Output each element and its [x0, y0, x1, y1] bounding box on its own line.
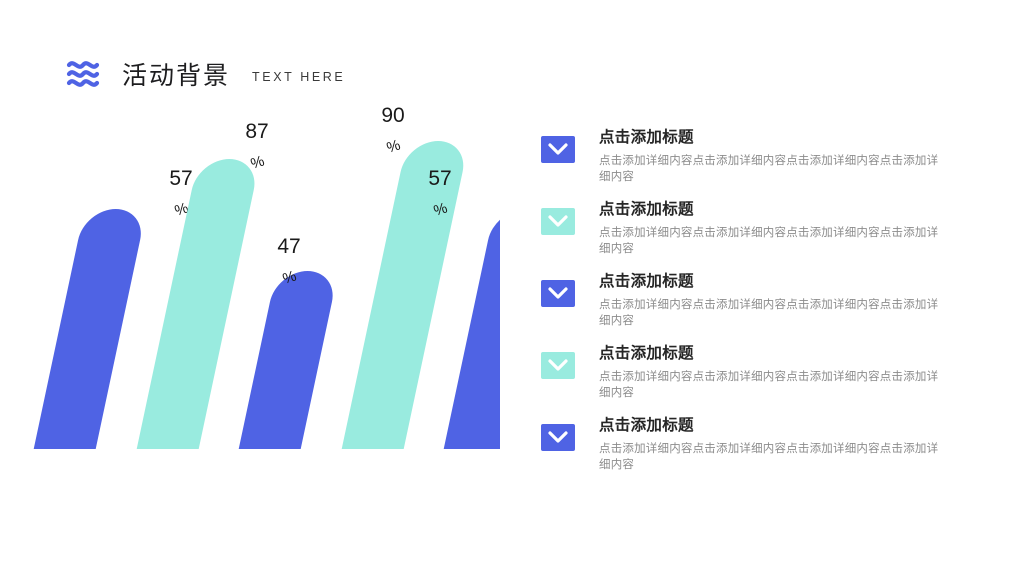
bar-4-unit: % — [385, 137, 403, 157]
bar-chart: 57 % 87 % 47 % 90 % 57 % — [0, 90, 500, 470]
bar-2-unit: % — [249, 153, 267, 173]
bar-4: 90 % — [342, 104, 469, 449]
list-item-body: 点击添加标题 点击添加详细内容点击添加详细内容点击添加详细内容点击添加详细内容 — [599, 344, 961, 401]
bar-5: 57 % — [428, 167, 500, 449]
bar-2: 87 % — [137, 120, 269, 449]
bar-1-value: 57 — [169, 167, 192, 190]
list-item-desc: 点击添加详细内容点击添加详细内容点击添加详细内容点击添加详细内容 — [599, 369, 944, 401]
list-item-desc: 点击添加详细内容点击添加详细内容点击添加详细内容点击添加详细内容 — [599, 153, 944, 185]
list-item-title: 点击添加标题 — [599, 416, 961, 436]
list-item-desc: 点击添加详细内容点击添加详细内容点击添加详细内容点击添加详细内容 — [599, 225, 944, 257]
page-subtitle: TEXT HERE — [252, 70, 345, 84]
list-item-body: 点击添加标题 点击添加详细内容点击添加详细内容点击添加详细内容点击添加详细内容 — [599, 200, 961, 257]
bar-5-value: 57 — [428, 167, 451, 190]
bar-3-value: 47 — [277, 235, 300, 258]
list-item-body: 点击添加标题 点击添加详细内容点击添加详细内容点击添加详细内容点击添加详细内容 — [599, 416, 961, 473]
list-item[interactable]: 点击添加标题 点击添加详细内容点击添加详细内容点击添加详细内容点击添加详细内容 — [541, 344, 961, 416]
bar-2-value: 87 — [245, 120, 268, 143]
list-item-body: 点击添加标题 点击添加详细内容点击添加详细内容点击添加详细内容点击添加详细内容 — [599, 272, 961, 329]
list-item-desc: 点击添加详细内容点击添加详细内容点击添加详细内容点击添加详细内容 — [599, 441, 944, 473]
list-item-body: 点击添加标题 点击添加详细内容点击添加详细内容点击添加详细内容点击添加详细内容 — [599, 128, 961, 185]
chevron-down-icon[interactable] — [541, 424, 575, 451]
list-item[interactable]: 点击添加标题 点击添加详细内容点击添加详细内容点击添加详细内容点击添加详细内容 — [541, 416, 961, 488]
chevron-down-icon[interactable] — [541, 136, 575, 163]
feature-list: 点击添加标题 点击添加详细内容点击添加详细内容点击添加详细内容点击添加详细内容 … — [541, 128, 961, 488]
list-item-title: 点击添加标题 — [599, 272, 961, 292]
list-item[interactable]: 点击添加标题 点击添加详细内容点击添加详细内容点击添加详细内容点击添加详细内容 — [541, 272, 961, 344]
chevron-down-icon[interactable] — [541, 352, 575, 379]
list-item-title: 点击添加标题 — [599, 128, 961, 148]
chevron-down-icon[interactable] — [541, 208, 575, 235]
bar-4-value: 90 — [381, 104, 404, 127]
page-title: 活动背景 — [122, 56, 230, 92]
list-item[interactable]: 点击添加标题 点击添加详细内容点击添加详细内容点击添加详细内容点击添加详细内容 — [541, 200, 961, 272]
list-item[interactable]: 点击添加标题 点击添加详细内容点击添加详细内容点击添加详细内容点击添加详细内容 — [541, 128, 961, 200]
list-item-title: 点击添加标题 — [599, 200, 961, 220]
list-item-title: 点击添加标题 — [599, 344, 961, 364]
chevron-down-icon[interactable] — [541, 280, 575, 307]
list-item-desc: 点击添加详细内容点击添加详细内容点击添加详细内容点击添加详细内容 — [599, 297, 944, 329]
bar-3: 47 % — [239, 235, 339, 449]
waves-icon — [62, 54, 104, 94]
